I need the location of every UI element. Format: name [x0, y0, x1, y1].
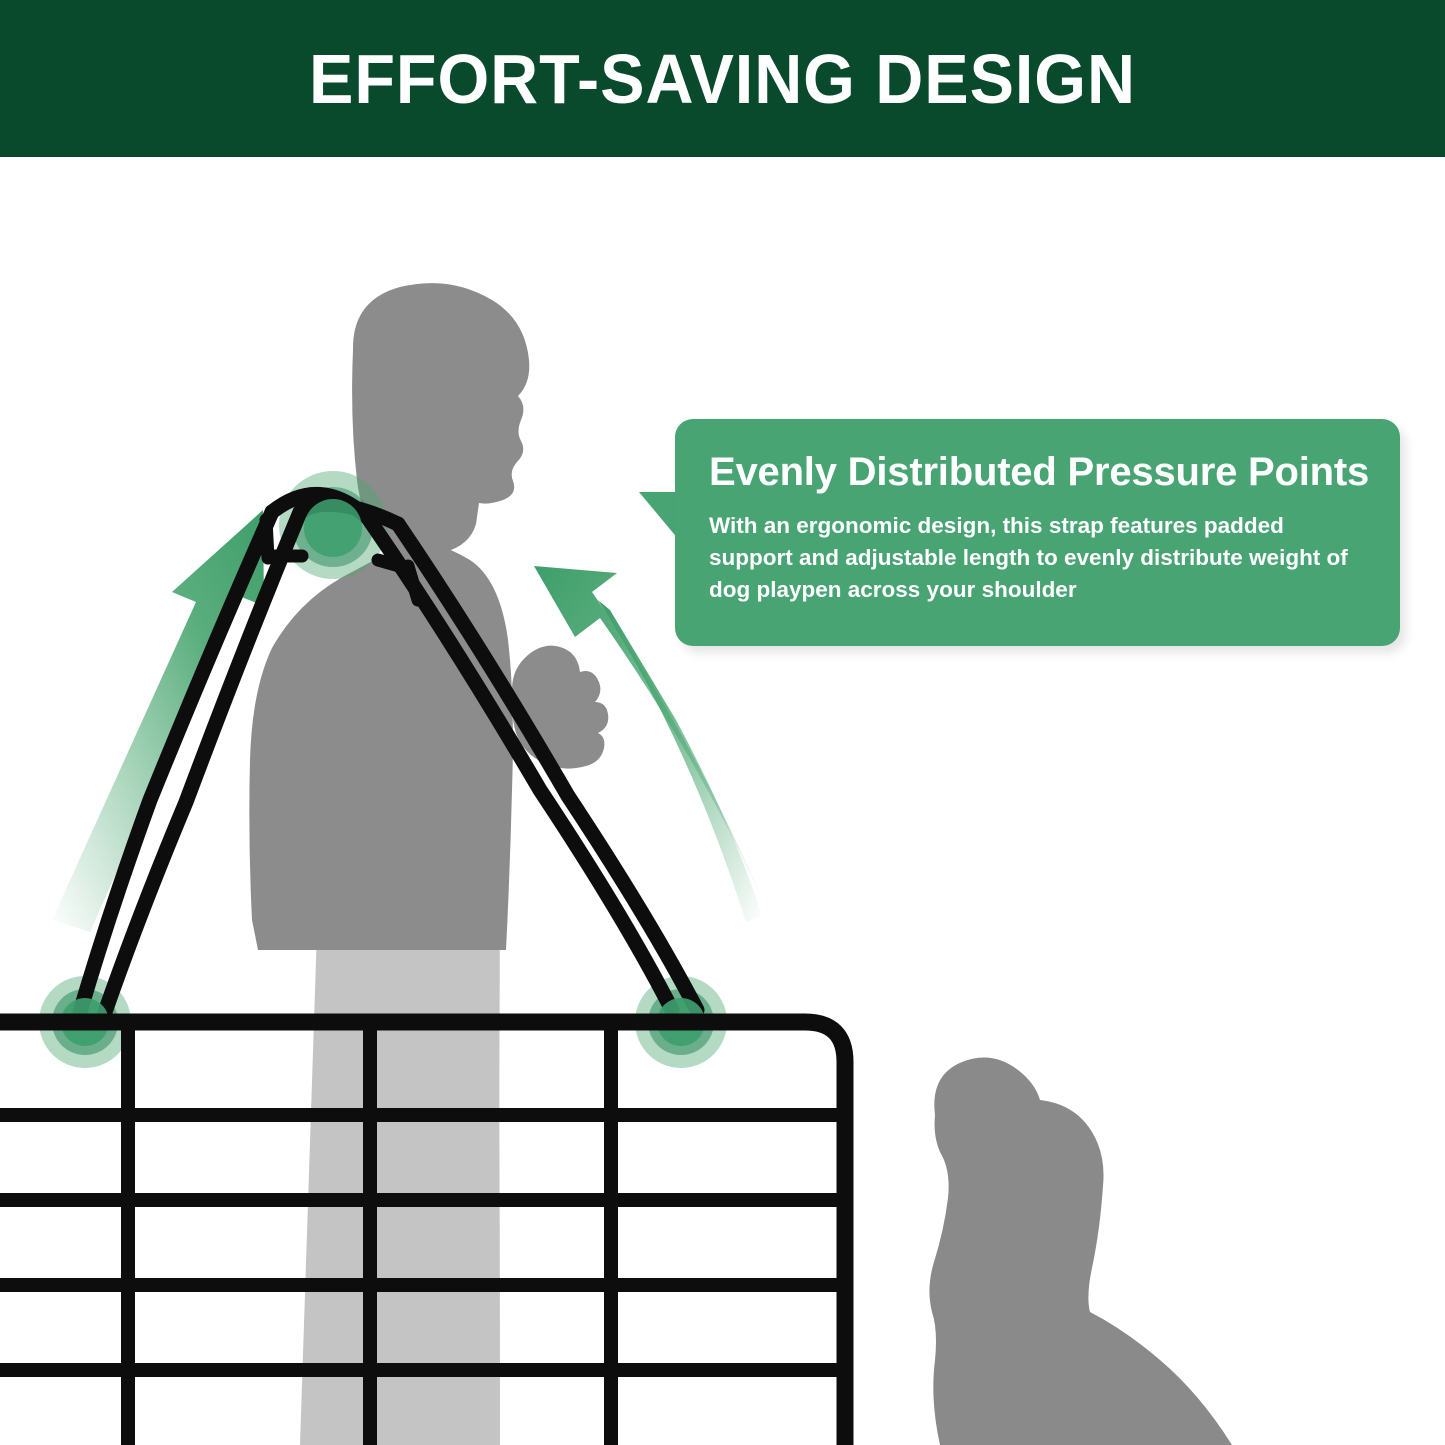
dog-body [929, 1058, 1232, 1445]
infographic-page: EFFORT-SAVING DESIGN Evenly Distributed … [0, 0, 1445, 1445]
callout-heading: Evenly Distributed Pressure Points [709, 451, 1366, 493]
feature-callout: Evenly Distributed Pressure Points With … [675, 419, 1400, 646]
shoulder-pressure-point-core [304, 499, 362, 557]
person-torso [249, 542, 513, 950]
product-illustration [0, 0, 1445, 1445]
person-silhouette [249, 283, 608, 1445]
person-hand [512, 646, 608, 769]
callout-pointer-tail [639, 492, 679, 540]
strap-crossbar-left-2 [266, 520, 268, 558]
callout-body-text: With an ergonomic design, this strap fea… [709, 510, 1349, 606]
header-banner: EFFORT-SAVING DESIGN [0, 0, 1445, 157]
dog-silhouette [929, 1058, 1232, 1445]
page-title: EFFORT-SAVING DESIGN [36, 0, 1409, 157]
strap-left-outer [80, 512, 272, 1012]
